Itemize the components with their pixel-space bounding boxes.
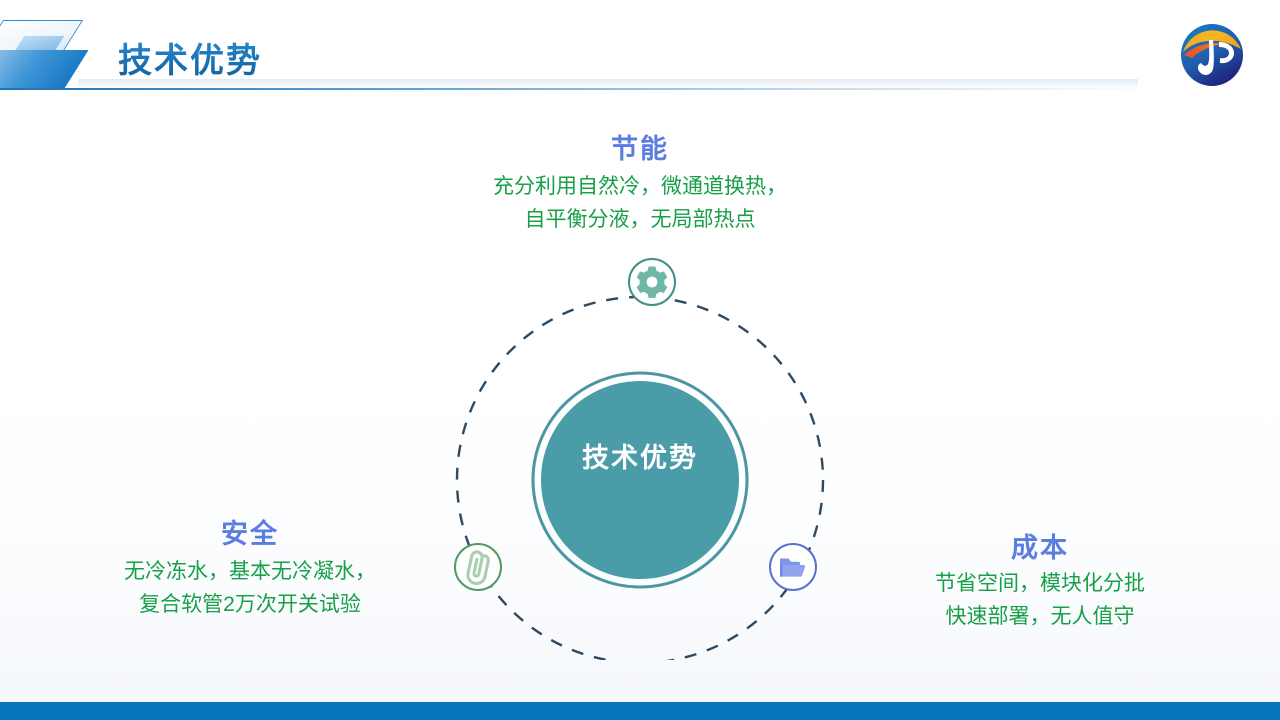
safety-heading: 安全 — [20, 518, 480, 550]
header-divider — [0, 88, 1150, 90]
header-parallelogram-fill — [0, 50, 88, 90]
energy-body: 充分利用自然冷，微通道换热， 自平衡分液，无局部热点 — [330, 171, 950, 236]
center-disc — [541, 381, 739, 579]
page-title: 技术优势 — [118, 33, 262, 82]
footer-bar — [0, 702, 1280, 720]
advantage-block-safety: 安全 无冷冻水，基本无冷凝水， 复合软管2万次开关试验 — [20, 518, 480, 621]
company-globe-logo — [1179, 22, 1245, 88]
cost-body: 节省空间，模块化分批 快速部署，无人值守 — [810, 568, 1270, 633]
cost-heading: 成本 — [810, 532, 1270, 564]
node-gear — [629, 259, 675, 305]
advantage-block-energy: 节能 充分利用自然冷，微通道换热， 自平衡分液，无局部热点 — [330, 133, 950, 236]
safety-body: 无冷冻水，基本无冷凝水， 复合软管2万次开关试验 — [20, 556, 480, 621]
logo-svg — [1179, 22, 1245, 88]
advantage-block-cost: 成本 节省空间，模块化分批 快速部署，无人值守 — [810, 532, 1270, 633]
slide-header: 技术优势 — [0, 0, 1280, 95]
slide-canvas: 技术优势 — [0, 0, 1280, 720]
energy-heading: 节能 — [330, 133, 950, 165]
